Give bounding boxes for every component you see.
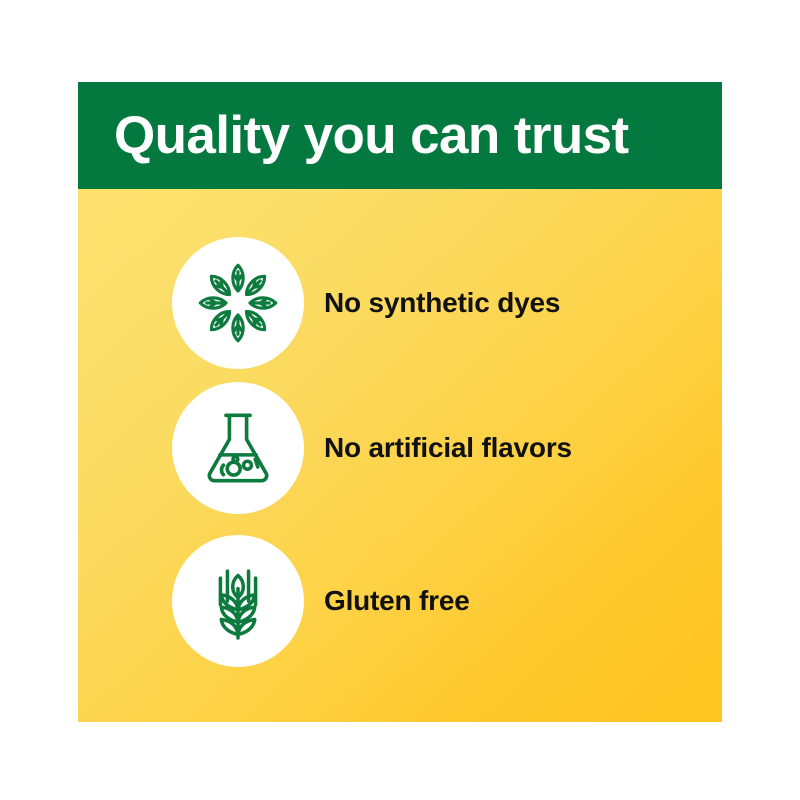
feature-list: No synthetic dyes (78, 189, 722, 722)
lab-flask-icon (195, 405, 281, 491)
feature-item-no-synthetic-dyes: No synthetic dyes (172, 237, 560, 369)
icon-badge (172, 382, 304, 514)
wheat-stalk-icon (194, 557, 282, 645)
promo-graphic: Quality you can trust (0, 0, 800, 800)
header-banner: Quality you can trust (78, 82, 722, 189)
feature-label: No synthetic dyes (324, 287, 560, 319)
feature-item-gluten-free: Gluten free (172, 535, 470, 667)
page-title: Quality you can trust (114, 109, 629, 162)
feature-label: No artificial flavors (324, 432, 572, 464)
feature-item-no-artificial-flavors: No artificial flavors (172, 382, 572, 514)
feature-label: Gluten free (324, 585, 470, 617)
icon-badge (172, 237, 304, 369)
flower-petals-icon (192, 257, 284, 349)
features-panel: No synthetic dyes (78, 189, 722, 722)
icon-badge (172, 535, 304, 667)
